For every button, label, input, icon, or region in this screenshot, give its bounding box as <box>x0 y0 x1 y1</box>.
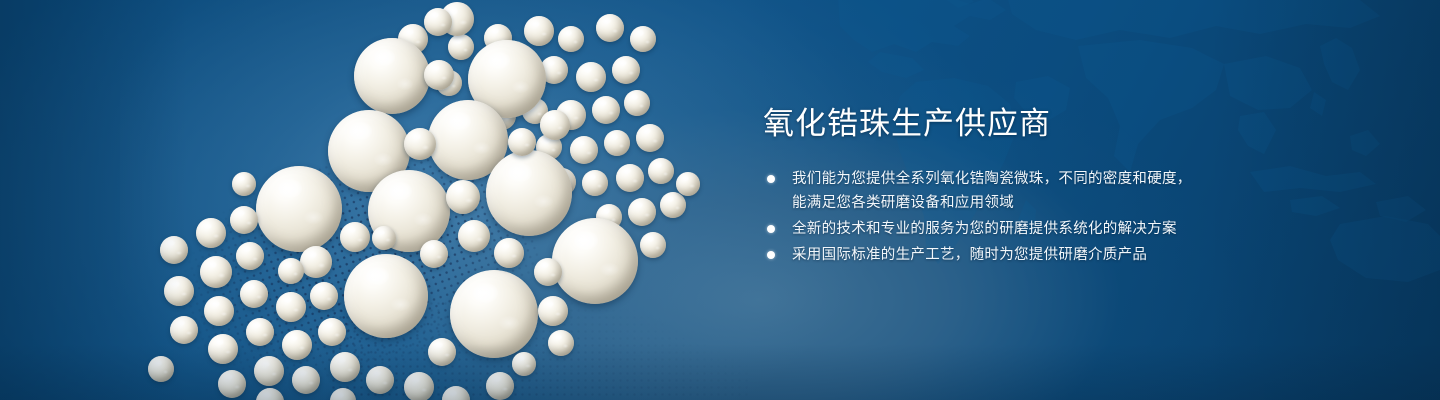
bullet-dot-icon <box>767 251 775 259</box>
feature-line-1: 全新的技术和专业的服务为您的研磨提供系统化的解决方案 <box>792 221 1177 237</box>
feature-line-2: 能满足您各类研磨设备和应用领域 <box>792 191 1233 215</box>
hero-banner: 氧化锆珠生产供应商 我们能为您提供全系列氧化锆陶瓷微珠，不同的密度和硬度， 能满… <box>0 0 1440 400</box>
banner-headline: 氧化锆珠生产供应商 <box>763 104 1233 144</box>
feature-item: 我们能为您提供全系列氧化锆陶瓷微珠，不同的密度和硬度， 能满足您各类研磨设备和应… <box>763 167 1233 215</box>
feature-item: 采用国际标准的生产工艺，随时为您提供研磨介质产品 <box>763 243 1233 267</box>
feature-line-1: 我们能为您提供全系列氧化锆陶瓷微珠，不同的密度和硬度， <box>792 171 1192 187</box>
feature-list: 我们能为您提供全系列氧化锆陶瓷微珠，不同的密度和硬度， 能满足您各类研磨设备和应… <box>763 167 1233 267</box>
bullet-dot-icon <box>767 225 775 233</box>
feature-item: 全新的技术和专业的服务为您的研磨提供系统化的解决方案 <box>763 217 1233 241</box>
bullet-dot-icon <box>767 175 775 183</box>
feature-line-1: 采用国际标准的生产工艺，随时为您提供研磨介质产品 <box>792 247 1147 263</box>
banner-copy: 氧化锆珠生产供应商 我们能为您提供全系列氧化锆陶瓷微珠，不同的密度和硬度， 能满… <box>763 104 1233 269</box>
